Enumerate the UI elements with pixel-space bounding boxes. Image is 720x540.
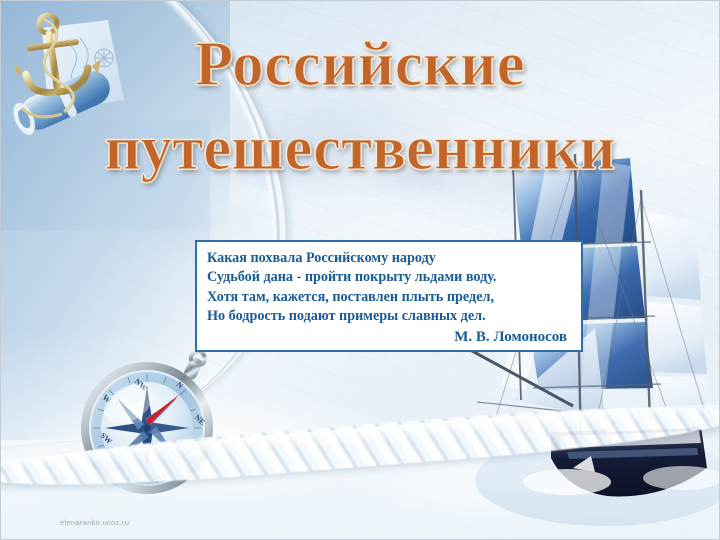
quote-line-1: Какая похвала Российскому народу bbox=[207, 249, 571, 268]
presentation-slide: N NE E SE S SW W NW Российские путешеств… bbox=[0, 0, 720, 540]
title-line-1: Российские bbox=[0, 34, 720, 96]
quote-author: М. В. Ломоносов bbox=[207, 327, 571, 347]
quote-line-4: Но бодрость подают примеры славных дел. bbox=[207, 307, 571, 326]
quote-line-2: Судьбой дана - пройти покрыту льдами вод… bbox=[207, 268, 571, 287]
quote-textbox: Какая похвала Российскому народу Судьбой… bbox=[195, 240, 583, 352]
title-line-2: путешественники bbox=[0, 118, 720, 180]
quote-line-3: Хотя там, кажется, поставлен плыть преде… bbox=[207, 288, 571, 307]
page-title: Российские путешественники bbox=[0, 34, 720, 179]
watermark: elenaranko.ucoz.ru bbox=[60, 518, 129, 527]
